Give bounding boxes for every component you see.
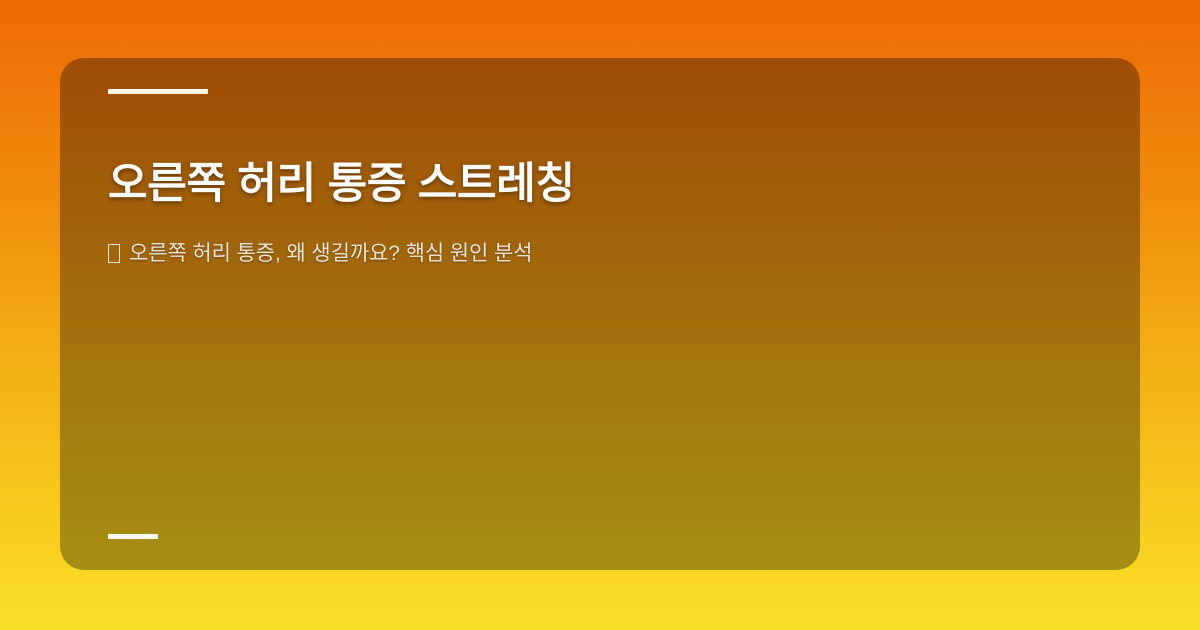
hero-card: 오른쪽 허리 통증 스트레칭 오른쪽 허리 통증, 왜 생길까요? 핵심 원인 … (60, 58, 1140, 570)
decorative-rule-top (108, 89, 208, 94)
missing-glyph-box-icon (108, 244, 120, 263)
og-image-canvas: 오른쪽 허리 통증 스트레칭 오른쪽 허리 통증, 왜 생길까요? 핵심 원인 … (0, 0, 1200, 630)
card-text-block: 오른쪽 허리 통증 스트레칭 오른쪽 허리 통증, 왜 생길까요? 핵심 원인 … (108, 158, 1092, 270)
page-subtitle: 오른쪽 허리 통증, 왜 생길까요? 핵심 원인 분석 (129, 242, 532, 265)
page-subtitle-line: 오른쪽 허리 통증, 왜 생길까요? 핵심 원인 분석 (108, 238, 1092, 270)
decorative-rule-bottom (108, 534, 158, 539)
page-title: 오른쪽 허리 통증 스트레칭 (108, 158, 1092, 210)
